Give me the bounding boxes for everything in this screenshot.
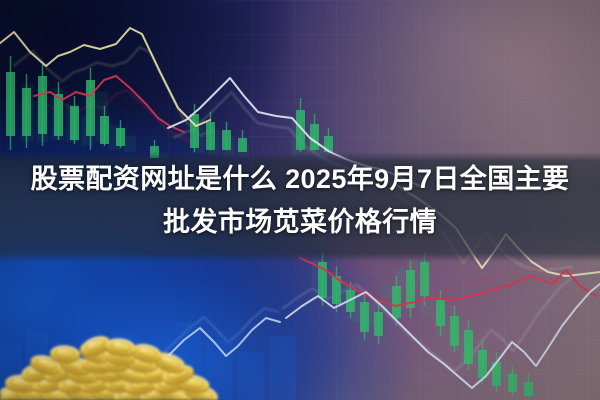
candle-body	[346, 290, 355, 312]
candle-body	[206, 122, 215, 150]
candle-body	[392, 286, 401, 318]
trend-line	[51, 90, 189, 140]
trend-line	[283, 278, 572, 372]
candle-body-echo	[291, 119, 303, 155]
trend-line	[34, 76, 184, 132]
gold-coin	[78, 370, 116, 397]
candle-body-echo	[36, 99, 48, 142]
gold-coin	[20, 360, 55, 385]
gold-coin	[99, 353, 133, 375]
candle-body-echo	[66, 104, 78, 142]
gold-coin	[40, 385, 75, 400]
trend-line	[14, 47, 213, 135]
gold-coin	[49, 344, 80, 364]
trend-line	[150, 318, 280, 372]
candle-body	[190, 114, 199, 148]
candle-body-echo	[81, 116, 93, 147]
candle-body	[450, 316, 459, 346]
candle-body-echo	[488, 362, 500, 378]
gold-coin	[79, 332, 114, 360]
gold-coin	[28, 352, 64, 378]
candle-body-echo	[474, 351, 486, 373]
gold-coin	[92, 384, 126, 400]
candle-body	[374, 312, 383, 336]
gold-coin	[77, 339, 112, 367]
gold-coin	[151, 349, 187, 377]
volume-bar	[0, 344, 22, 400]
candle-body	[420, 262, 429, 296]
candle-body	[86, 80, 95, 136]
gold-coin-pile	[0, 285, 230, 400]
volume-bar	[142, 348, 168, 400]
candle-body	[478, 350, 487, 378]
thumbnail-image: 股票配资网址是什么 2025年9月7日全国主要批发市场苋菜价格行情	[0, 0, 600, 400]
candle-body-echo	[22, 84, 34, 142]
gold-coin	[104, 373, 140, 395]
candle-body-echo	[407, 259, 419, 290]
candle-body	[238, 138, 247, 152]
gold-coin	[95, 364, 128, 384]
candle-body-echo	[461, 340, 473, 365]
gold-coin	[123, 373, 160, 398]
gold-coin	[58, 353, 94, 379]
volume-bar	[52, 354, 74, 400]
candle-body	[6, 72, 15, 136]
candle-body-echo	[193, 123, 205, 154]
gold-coin	[57, 372, 94, 397]
gold-coin	[66, 364, 100, 386]
candle-body	[22, 88, 31, 136]
candle-body-echo	[381, 281, 393, 310]
trend-line	[286, 284, 600, 388]
candle-body	[406, 270, 415, 308]
gold-coin	[114, 361, 150, 387]
gold-coin	[42, 358, 78, 386]
trend-line	[158, 308, 278, 357]
volume-bar	[26, 330, 48, 400]
candle-body	[296, 110, 305, 150]
candle-body	[318, 262, 327, 298]
gold-coin	[130, 341, 163, 366]
candle-body-echo	[312, 259, 324, 291]
gold-coin	[138, 381, 175, 400]
gold-coin	[105, 347, 136, 367]
candle-body	[38, 76, 47, 134]
gold-coin	[65, 381, 102, 400]
volume-bar	[206, 340, 232, 400]
gold-coin	[17, 385, 51, 400]
candle-body	[436, 300, 445, 326]
trend-line	[0, 28, 210, 126]
candle-body	[222, 130, 231, 150]
volume-bar	[270, 336, 296, 400]
candle-body-echo	[325, 272, 337, 297]
page-title: 股票配资网址是什么 2025年9月7日全国主要批发市场苋菜价格行情	[0, 158, 600, 244]
candle-body-echo	[394, 266, 406, 300]
gold-coin	[112, 381, 150, 400]
candle-body-echo	[51, 88, 63, 140]
gold-coin	[158, 381, 196, 400]
gold-coin	[174, 372, 211, 397]
candle-body	[70, 106, 79, 140]
candle-body	[310, 124, 319, 150]
gold-coin	[160, 362, 196, 389]
candle-body-echo	[503, 369, 515, 382]
candle-body	[492, 362, 501, 386]
candle-body	[508, 374, 517, 392]
gold-coin	[152, 372, 189, 397]
candle-body-echo	[364, 305, 376, 327]
volume-bar	[112, 332, 138, 400]
candle-body	[116, 128, 125, 146]
gold-coin	[0, 381, 31, 400]
gold-coin	[5, 374, 40, 394]
candle-body	[360, 302, 369, 332]
candle-body-echo	[448, 322, 460, 353]
candle-body-echo	[96, 92, 108, 142]
gold-coin	[182, 379, 220, 400]
candle-body	[524, 382, 533, 396]
candle-body	[464, 330, 473, 364]
gold-coin	[124, 352, 158, 375]
gold-coin-pile-svg	[0, 285, 230, 400]
candle-body	[324, 136, 333, 152]
gold-coin	[138, 362, 173, 386]
candle-body-echo	[421, 294, 433, 317]
gold-coin	[31, 370, 69, 396]
candle-body	[100, 116, 109, 144]
candle-body-echo	[109, 125, 121, 150]
volume-bar	[238, 352, 264, 400]
gold-coin	[105, 336, 137, 359]
candle-body-echo	[351, 296, 363, 323]
candle-body	[54, 94, 63, 136]
candle-body-echo	[124, 136, 136, 152]
candle-body	[332, 276, 341, 304]
trend-line	[300, 258, 596, 306]
candle-body-echo	[338, 285, 350, 305]
candle-body-echo	[435, 309, 447, 336]
gold-coin	[82, 355, 115, 375]
volume-bar	[176, 322, 202, 400]
